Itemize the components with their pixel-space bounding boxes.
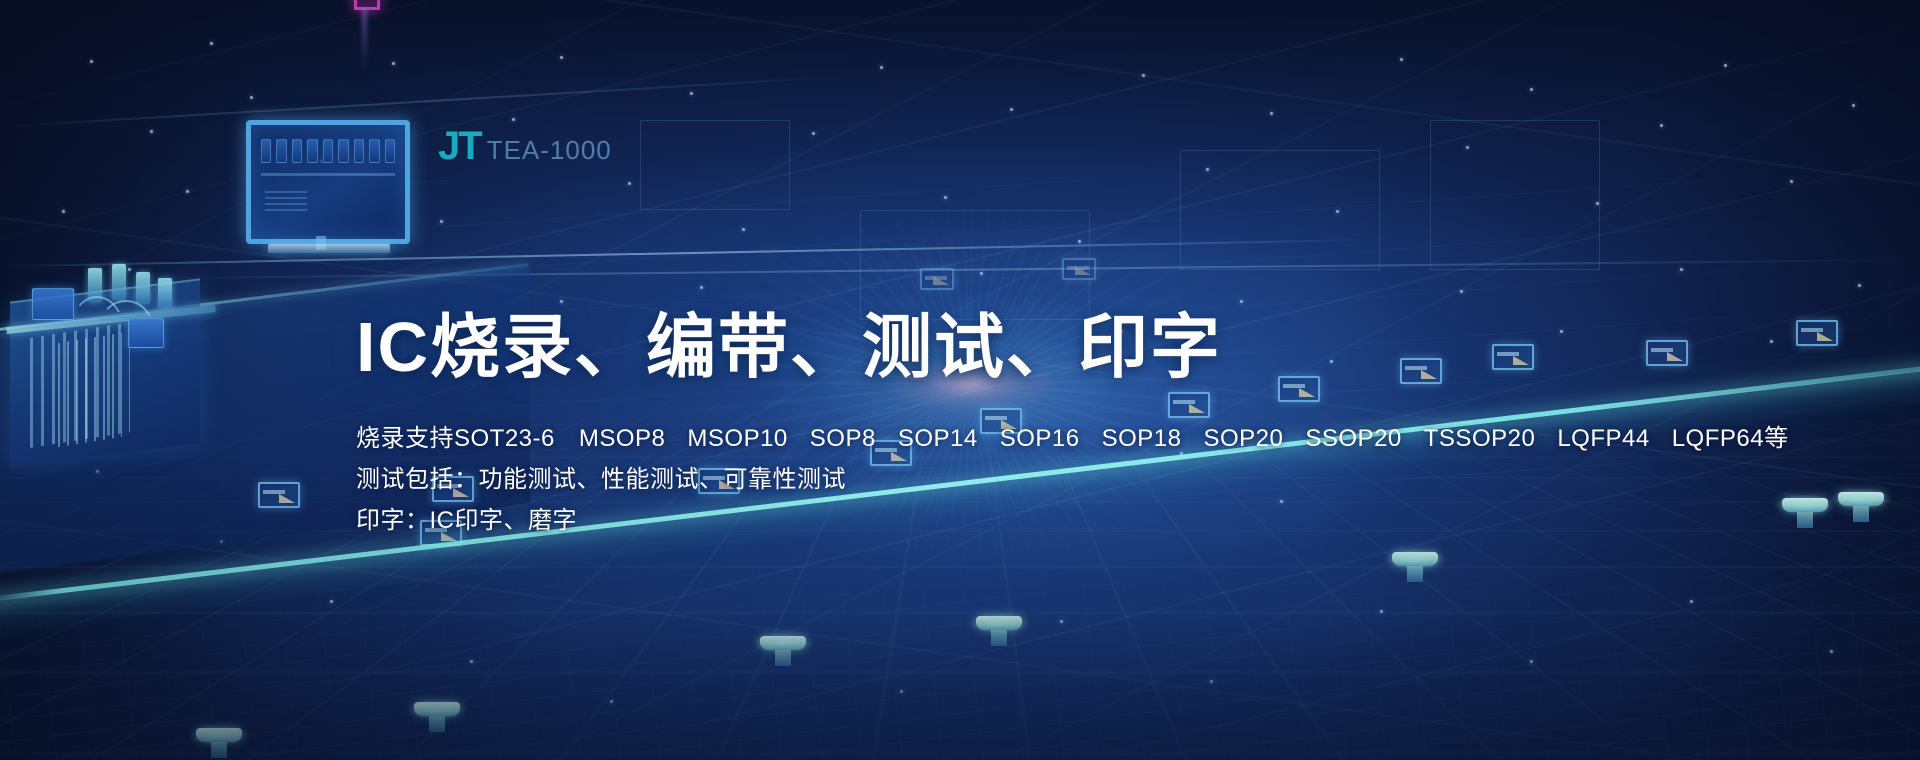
package-name: SOP18 (1102, 425, 1182, 452)
package-name: LQFP64等 (1672, 425, 1789, 452)
blueprint-outline (860, 210, 1090, 320)
machine-module (128, 318, 164, 348)
machine-body (10, 278, 200, 466)
pick-head-nozzle (136, 272, 150, 304)
package-name: SOP14 (898, 425, 978, 452)
package-name: SSOP20 (1305, 425, 1401, 452)
wall-monitor-icon (1796, 320, 1838, 346)
machine-module (32, 288, 74, 320)
wall-monitor-icon (258, 482, 300, 508)
workstation-monitor-icon (246, 120, 410, 244)
rail-carriage (414, 702, 460, 732)
ceiling-beam (154, 259, 1920, 279)
pick-head-nozzle (88, 268, 102, 302)
rail-carriage (1392, 552, 1438, 582)
package-name: SOP8 (810, 425, 876, 452)
marking-scope-line: 印字：IC印字、磨字 (356, 500, 1789, 541)
ceiling-beam (0, 239, 1382, 268)
ceiling-beam (1, 74, 864, 127)
monitor-screen-rows (261, 139, 395, 163)
package-name: MSOP8 (579, 425, 666, 452)
machine-hose (70, 296, 124, 330)
banner-text-block: IC烧录、编带、测试、印字 烧录支持SOT23-6MSOP8MSOP10SOP8… (356, 310, 1789, 541)
package-name: MSOP10 (687, 425, 787, 452)
rail-carriage (760, 636, 806, 666)
equipment-brand-mark: JT TEA-1000 (438, 124, 612, 169)
jt-logo-text: JT (438, 124, 481, 169)
monitor-screen-bar2 (265, 187, 307, 211)
pick-head-nozzle (158, 278, 172, 308)
monitor-screen-bar (261, 173, 395, 176)
monitor-neck (316, 236, 326, 250)
magenta-sign-fragment (354, 0, 380, 10)
test-scope-line: 测试包括：功能测试、性能测试、可靠性测试 (356, 459, 1789, 500)
package-name: SOP20 (1203, 425, 1283, 452)
rail-carriage (976, 616, 1022, 646)
rail-carriage (1782, 498, 1828, 528)
pick-head-nozzle (112, 264, 126, 300)
machine-fins (30, 322, 130, 448)
package-name: TSSOP20 (1424, 425, 1536, 452)
blueprint-outline (640, 120, 790, 210)
package-name: LQFP44 (1557, 425, 1649, 452)
burn-support-line: 烧录支持SOT23-6MSOP8MSOP10SOP8SOP14SOP16SOP1… (356, 418, 1789, 459)
magenta-light-beam (362, 8, 367, 70)
monitor-stand (268, 244, 390, 253)
wall-monitor-icon (920, 268, 954, 290)
equipment-model: TEA-1000 (487, 135, 612, 166)
rail-carriage (1838, 492, 1884, 522)
rail-carriage (196, 728, 242, 758)
hero-banner: JT TEA-1000 (0, 0, 1920, 760)
service-detail-list: 烧录支持SOT23-6MSOP8MSOP10SOP8SOP14SOP16SOP1… (356, 418, 1789, 542)
machine-fins-inner (58, 333, 122, 447)
page-title: IC烧录、编带、测试、印字 (356, 310, 1789, 386)
package-list: MSOP8MSOP10SOP8SOP14SOP16SOP18SOP20SSOP2… (579, 425, 1789, 452)
package-name: SOP16 (1000, 425, 1080, 452)
blueprint-outline (1430, 120, 1600, 270)
machine-hose (98, 300, 154, 330)
wall-monitor-icon (1062, 258, 1096, 280)
machine-rail (6, 305, 216, 334)
burn-support-prefix: 烧录支持SOT23-6 (356, 425, 555, 452)
blueprint-outline (1180, 150, 1380, 270)
